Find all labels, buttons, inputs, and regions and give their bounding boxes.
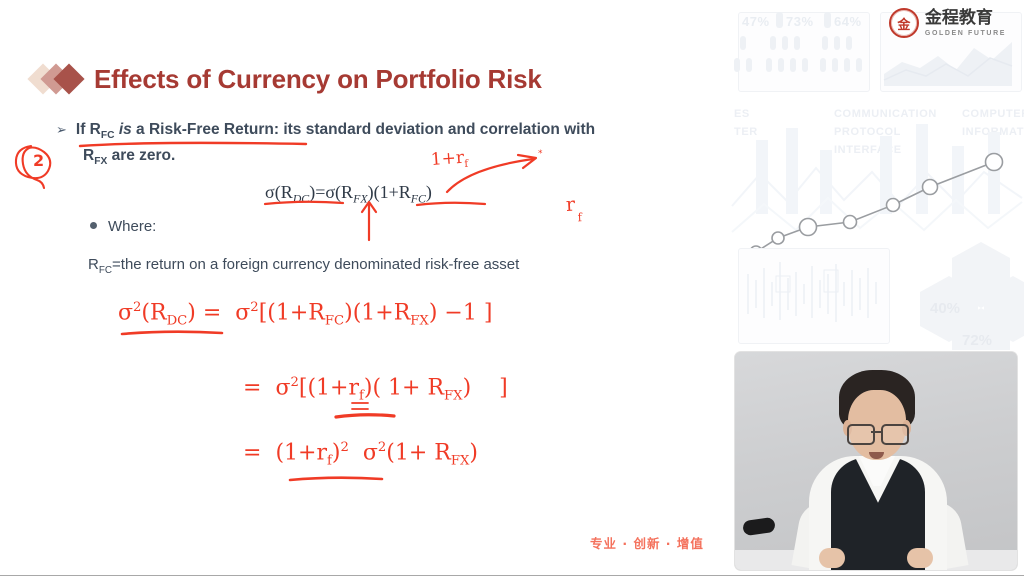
backdrop-candlesticks bbox=[738, 248, 888, 342]
backdrop-bar bbox=[820, 150, 832, 214]
person-icon bbox=[802, 58, 808, 72]
backdrop-line-chart bbox=[730, 125, 1024, 275]
hw-l2-exp: 2 bbox=[290, 375, 298, 390]
hw-l1-open: (R bbox=[141, 300, 166, 325]
hw-l1-tail: ) −1 ] bbox=[429, 300, 493, 325]
person-icon bbox=[834, 36, 840, 50]
video-glasses-bridge bbox=[871, 431, 881, 433]
where-definition-text: =the return on a foreign currency denomi… bbox=[112, 256, 519, 273]
backdrop-percent-3: 64% bbox=[834, 14, 862, 29]
where-definition: RFC=the return on a foreign currency den… bbox=[88, 256, 519, 276]
handwritten-derivation-line-1: σ2(RDC) = σ2[(1+RFC)(1+RFX) −1 ] bbox=[118, 300, 492, 329]
backdrop-card-candlestick bbox=[738, 248, 890, 344]
bullet-level1: ➢If RFC is a Risk-Free Return: its stand… bbox=[56, 118, 696, 170]
bullet1-text-d: are zero. bbox=[107, 147, 175, 164]
person-icon bbox=[766, 58, 772, 72]
where-rfc: R bbox=[88, 256, 99, 273]
bullet1-text-a: If R bbox=[76, 121, 101, 138]
formula-close: ) bbox=[426, 182, 432, 202]
backdrop-percent-2: 73% bbox=[786, 14, 814, 29]
hw-l3-exp: 2 bbox=[340, 440, 348, 455]
arrow-bullet-icon: ➢ bbox=[56, 122, 67, 137]
instructor-video-tile[interactable] bbox=[735, 352, 1017, 570]
person-icon bbox=[824, 12, 831, 28]
formula-mid: )(1+R bbox=[368, 182, 411, 202]
underline-one-plus-rf-line2 bbox=[336, 415, 394, 417]
formula-sigma: σ bbox=[265, 182, 275, 202]
title-diamond-decoration bbox=[32, 62, 94, 96]
hexagon-label-2: 72% bbox=[962, 332, 992, 349]
hw-l2-bracket-close: ] bbox=[499, 375, 508, 400]
handwritten-derivation-line-3: = (1+rf)2 σ2(1+ RFX) bbox=[243, 440, 478, 469]
backdrop-bar bbox=[916, 124, 928, 214]
video-hand-right bbox=[907, 548, 933, 568]
person-icon bbox=[790, 58, 796, 72]
formula-sub-fc: FC bbox=[411, 192, 426, 206]
video-glasses-right bbox=[881, 424, 909, 445]
bullet1-text-c: R bbox=[83, 147, 94, 164]
hw-note-sub: f bbox=[464, 159, 469, 170]
hw-l2-sub-fx: FX bbox=[444, 389, 463, 404]
hw-l2-mid: )( 1+ R bbox=[364, 375, 444, 400]
underline-sigma2-rdc bbox=[122, 332, 222, 334]
hw-l3-mid: (1+ R bbox=[386, 440, 451, 465]
person-icon bbox=[770, 36, 776, 50]
bullet1-emphasis: is bbox=[119, 121, 132, 138]
person-icon bbox=[740, 36, 746, 50]
hw-l3-eq: = bbox=[243, 440, 261, 465]
hw-l3-tail: ) bbox=[469, 440, 478, 465]
backdrop-word-5: INTERFACE bbox=[834, 144, 902, 156]
backdrop-word-6: COMPUTER bbox=[962, 108, 1024, 120]
hw-l3-open: (1+r bbox=[275, 440, 327, 465]
logo-text-block: 金程教育 GOLDEN FUTURE bbox=[925, 10, 1006, 37]
hw-l3-sub-fx: FX bbox=[451, 454, 470, 469]
hexagon-shape bbox=[952, 258, 1010, 292]
backdrop-bar bbox=[786, 128, 798, 214]
backdrop-zigzag bbox=[730, 128, 1024, 248]
hexagon-shape bbox=[952, 324, 1010, 350]
page-title: Effects of Currency on Portfolio Risk bbox=[94, 64, 542, 95]
hexagon-shape bbox=[920, 292, 978, 326]
logo-english-name: GOLDEN FUTURE bbox=[925, 30, 1006, 37]
backdrop-word-4: PROTOCOL bbox=[834, 126, 901, 138]
hw-l2-eq: = bbox=[243, 375, 261, 400]
backdrop-word-1: ES bbox=[734, 108, 750, 120]
hw-rf-sub: f bbox=[577, 210, 582, 224]
hw-l1-sigma: σ bbox=[118, 300, 133, 325]
bullet1-continuation: RFX are zero. bbox=[83, 144, 696, 170]
hw-l2-sigma: σ bbox=[275, 375, 290, 400]
hw-l1-eq: ) = bbox=[187, 300, 221, 325]
footer-slogan: 专业 · 创新 · 增值 bbox=[590, 533, 704, 552]
person-icon bbox=[844, 58, 850, 72]
backdrop-percent-1: 47% bbox=[742, 14, 770, 29]
person-icon bbox=[794, 36, 800, 50]
hw-rf-text: r bbox=[565, 194, 575, 216]
backdrop-word-7: INFORMATION bbox=[962, 126, 1024, 138]
video-hand-left bbox=[819, 548, 845, 568]
formula-sigma-rdc: σ(RDC)=σ(RFX)(1+RFC) bbox=[265, 182, 432, 207]
person-icon bbox=[778, 58, 784, 72]
backdrop-word-2: TER bbox=[734, 126, 758, 138]
hw-l1-mid: )(1+R bbox=[344, 300, 410, 325]
underline-one-plus-rf-squared bbox=[290, 478, 382, 480]
handwritten-rf-note: rf bbox=[565, 193, 580, 218]
bullet-level2-where: Where: bbox=[90, 218, 156, 235]
person-icon bbox=[776, 12, 783, 28]
where-label: Where: bbox=[108, 218, 156, 235]
person-icon bbox=[832, 58, 838, 72]
hw-l3-sigma: σ bbox=[363, 440, 378, 465]
formula-sub-fx: FX bbox=[353, 192, 368, 206]
hw-l3-sigma-exp: 2 bbox=[378, 440, 386, 455]
logo-chinese-name: 金程教育 bbox=[925, 10, 1006, 27]
formula-open: (R bbox=[275, 182, 293, 202]
person-icon bbox=[856, 58, 862, 72]
presentation-slide: 47% 73% 64% ES TER COMMUNICATION PROTOC bbox=[0, 0, 1024, 576]
bullet1-text-b: a Risk-Free Return: its standard deviati… bbox=[132, 121, 595, 138]
hw-l1-sub-fx: FX bbox=[410, 314, 429, 329]
person-icon bbox=[822, 36, 828, 50]
brand-logo: 金 金程教育 GOLDEN FUTURE bbox=[889, 8, 1006, 38]
person-icon bbox=[782, 36, 788, 50]
person-icon bbox=[846, 36, 852, 50]
hw-l1-bracket: [(1+R bbox=[259, 300, 325, 325]
slide-title-row: Effects of Currency on Portfolio Risk bbox=[32, 62, 542, 96]
backdrop-bar bbox=[756, 140, 768, 214]
hw-l1-sub-dc: DC bbox=[167, 314, 188, 329]
double-tick-annotation bbox=[352, 403, 368, 409]
hexagon-label-1: 40% bbox=[930, 300, 960, 317]
backdrop-word-3: COMMUNICATION bbox=[834, 108, 937, 120]
hw-note-text: 1+r bbox=[430, 148, 465, 170]
background-infographic: 47% 73% 64% ES TER COMMUNICATION PROTOC bbox=[730, 0, 1024, 350]
hexagon-shape bbox=[984, 292, 1024, 326]
svg-text:2: 2 bbox=[33, 151, 44, 170]
hw-l1-sigma2: σ bbox=[235, 300, 250, 325]
hw-l2-close: ) bbox=[463, 375, 472, 400]
hw-l1-sub-fc: FC bbox=[325, 314, 344, 329]
formula-eq: )=σ(R bbox=[309, 182, 353, 202]
backdrop-bar bbox=[952, 146, 964, 214]
person-icon bbox=[746, 58, 752, 72]
circled-number-annotation: 2 bbox=[16, 146, 50, 188]
video-glasses-left bbox=[847, 424, 875, 445]
backdrop-bar bbox=[988, 132, 1000, 214]
person-icon bbox=[820, 58, 826, 72]
round-bullet-icon bbox=[90, 222, 97, 229]
backdrop-card-people bbox=[738, 12, 870, 92]
formula-sub-dc: DC bbox=[293, 192, 310, 206]
hw-l2-bracket: [(1+r bbox=[299, 375, 359, 400]
bullet1-sub-fc: FC bbox=[101, 130, 115, 141]
bullet1-sub-fx: FX bbox=[94, 156, 107, 167]
handwritten-derivation-line-2: = σ2[(1+rf)( 1+ RFX) ] bbox=[243, 375, 508, 404]
backdrop-bar bbox=[880, 136, 892, 214]
where-rfc-sub: FC bbox=[99, 265, 112, 276]
handwritten-one-plus-rf-note: 1+rf bbox=[430, 147, 468, 172]
logo-seal-icon: 金 bbox=[889, 8, 919, 38]
hw-l1-exp2: 2 bbox=[250, 300, 258, 315]
person-icon bbox=[734, 58, 740, 72]
